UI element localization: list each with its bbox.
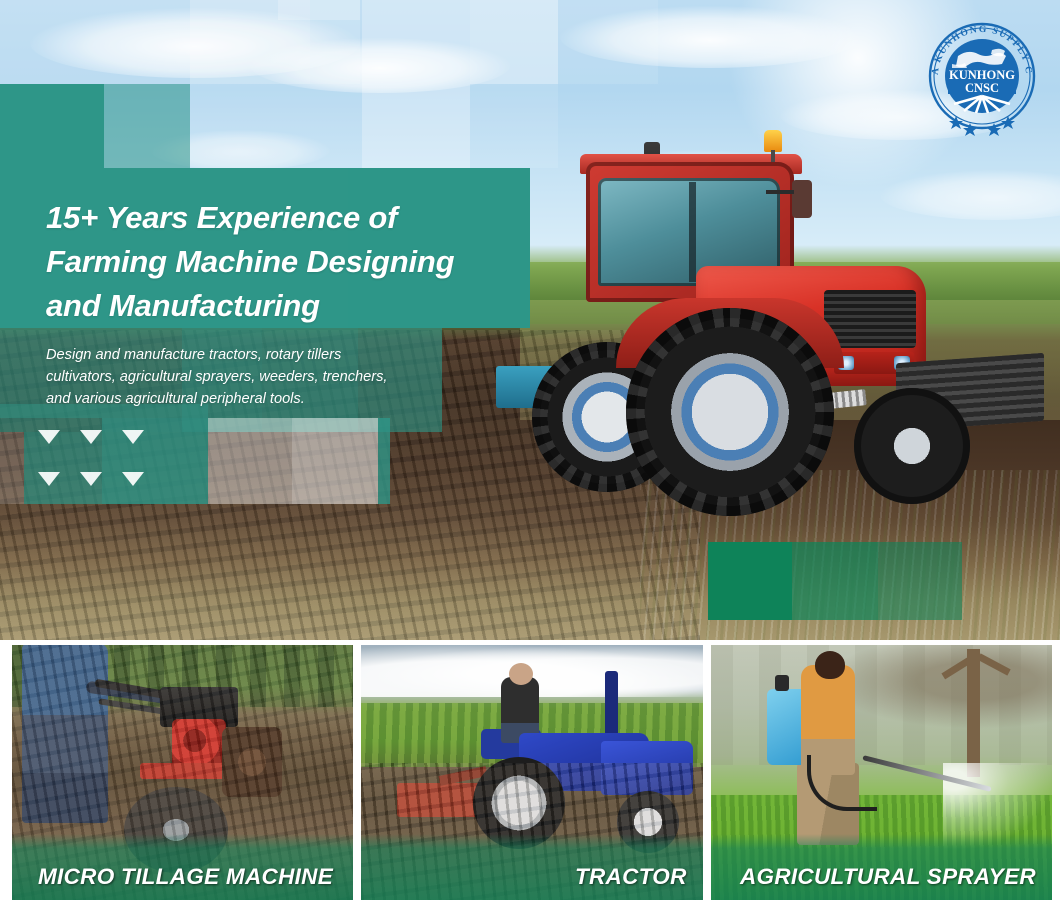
tiller-engine	[172, 719, 226, 767]
tiller-handle	[94, 679, 214, 708]
logo-line-2: CNSC	[965, 81, 999, 95]
company-logo: KUNHONG CNSC	[918, 12, 1046, 140]
triangle-down-icon	[80, 472, 102, 486]
product-card-micro-tillage-machine[interactable]: MICRO TILLAGE MACHINE	[12, 645, 353, 900]
subcopy-line-1: Design and manufacture tractors, rotary …	[46, 344, 476, 366]
tree-trunk	[967, 649, 980, 777]
headline-line-2: Farming Machine Designing	[46, 240, 526, 284]
promo-banner: 15+ Years Experience of Farming Machine …	[0, 0, 1060, 903]
tiller-fuel-tank	[160, 687, 238, 727]
triangle-down-icon	[122, 472, 144, 486]
rotary-tiller-implement	[397, 783, 483, 817]
tractor-mirror	[792, 180, 812, 218]
triangle-down-icon	[122, 430, 144, 444]
tractor-rear-wheel	[626, 308, 834, 516]
subcopy-line-3: and various agricultural peripheral tool…	[46, 388, 476, 410]
hero-subcopy: Design and manufacture tractors, rotary …	[46, 344, 476, 410]
hero-headline: 15+ Years Experience of Farming Machine …	[46, 196, 526, 328]
tractor-small-wheel	[854, 388, 970, 504]
operator-arm	[86, 681, 179, 706]
operator-figure	[22, 645, 108, 823]
tiller-tines	[222, 727, 282, 797]
rotary-tiller-arm	[439, 766, 488, 786]
tractor-hood	[601, 741, 693, 795]
globe-wheel-seal-icon: KUNHONG CNSC	[918, 12, 1046, 140]
card-label-micro-tillage-machine: MICRO TILLAGE MACHINE	[38, 864, 333, 890]
card-label-tractor: TRACTOR	[575, 864, 687, 890]
operator-head	[815, 651, 845, 679]
triangle-down-icon	[80, 430, 102, 444]
logo-line-1: KUNHONG	[949, 68, 1015, 82]
tiller-handle	[98, 698, 210, 721]
tree-line	[711, 645, 1052, 765]
triangle-decoration-group	[38, 430, 148, 492]
sprayer-pump-handle	[775, 675, 789, 691]
subcopy-line-2: cultivators, agricultural sprayers, weed…	[46, 366, 476, 388]
tree-line	[12, 645, 353, 707]
triangle-down-icon	[38, 430, 60, 444]
product-card-agricultural-sprayer[interactable]: AGRICULTURAL SPRAYER	[711, 645, 1052, 900]
headline-line-3: and Manufacturing	[46, 284, 526, 328]
headline-line-1: 15+ Years Experience of	[46, 196, 526, 240]
triangle-down-icon	[38, 472, 60, 486]
hero-tractor-image	[524, 130, 1054, 530]
card-label-agricultural-sprayer: AGRICULTURAL SPRAYER	[740, 864, 1036, 890]
product-card-row: MICRO TILLAGE MACHINE TRACTOR	[0, 645, 1060, 903]
hero-section: 15+ Years Experience of Farming Machine …	[0, 0, 1060, 640]
tractor-beacon-light	[764, 130, 782, 152]
tiller-deck	[140, 763, 252, 779]
product-card-tractor[interactable]: TRACTOR	[361, 645, 702, 900]
